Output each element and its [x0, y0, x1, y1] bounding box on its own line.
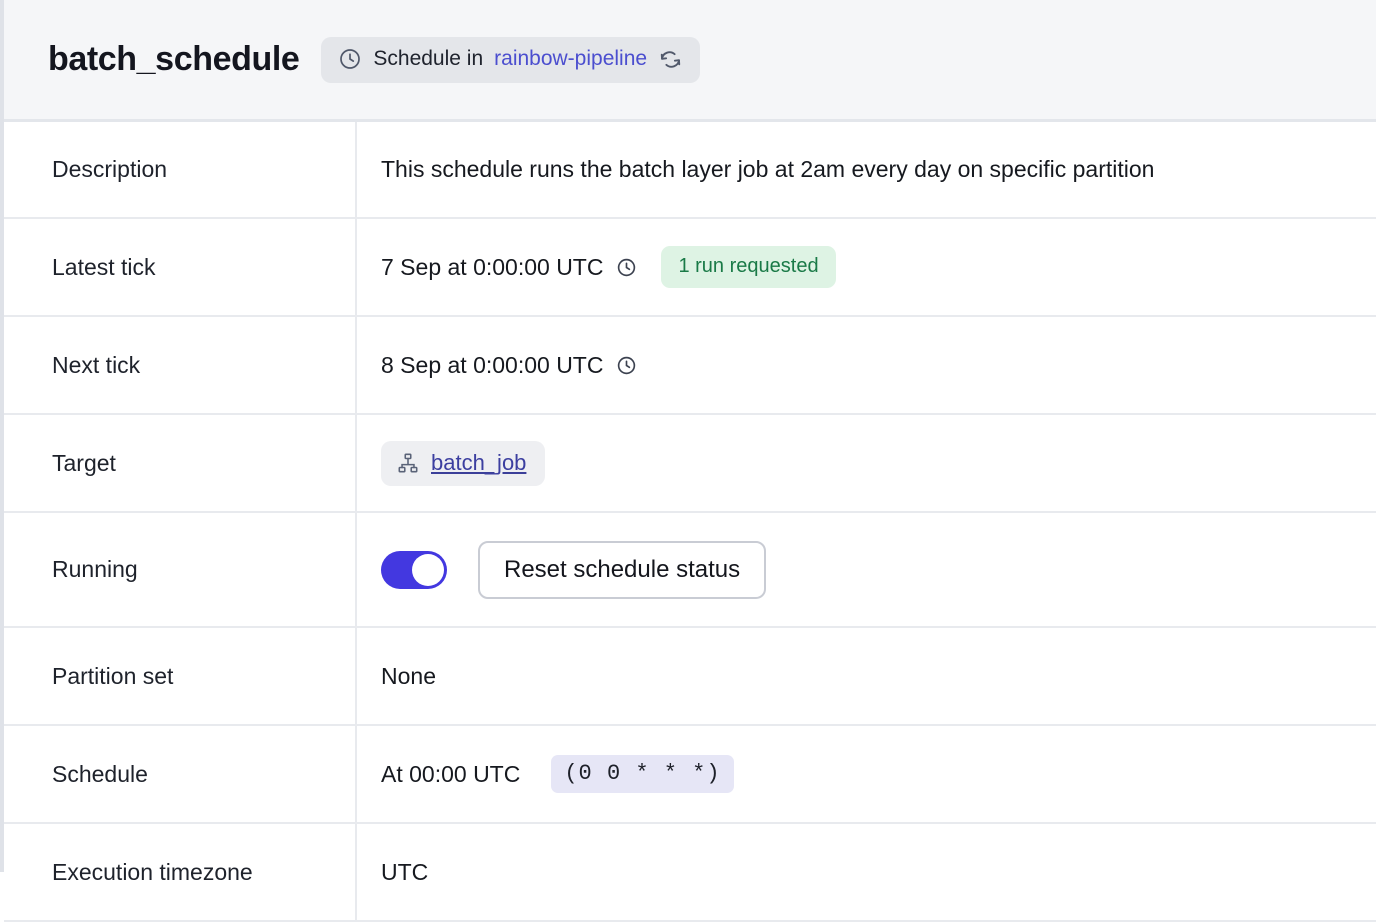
- table-row-schedule: Schedule At 00:00 UTC (0 0 * * *): [4, 725, 1376, 823]
- table-row-execution-timezone: Execution timezone UTC: [4, 823, 1376, 921]
- row-value-target: batch_job: [356, 414, 1376, 512]
- clock-icon: [616, 355, 637, 376]
- table-row-partition-set: Partition set None: [4, 627, 1376, 725]
- row-key-description: Description: [4, 122, 356, 218]
- row-key-target: Target: [4, 414, 356, 512]
- reset-schedule-status-button[interactable]: Reset schedule status: [478, 541, 766, 599]
- job-chip-label: batch_job: [431, 450, 526, 476]
- table-row-running: Running Reset schedule status: [4, 512, 1376, 627]
- row-key-next-tick: Next tick: [4, 316, 356, 414]
- clock-icon: [338, 47, 362, 71]
- page-title: batch_schedule: [48, 40, 299, 79]
- table-row-latest-tick: Latest tick 7 Sep at 0:00:00 UTC 1 run r…: [4, 218, 1376, 316]
- refresh-icon[interactable]: [658, 47, 683, 72]
- row-value-description: This schedule runs the batch layer job a…: [356, 122, 1376, 218]
- latest-tick-time: 7 Sep at 0:00:00 UTC: [381, 254, 603, 281]
- schedule-detail-page: batch_schedule Schedule in rainbow-pipel…: [0, 0, 1376, 872]
- table-row-next-tick: Next tick 8 Sep at 0:00:00 UTC: [4, 316, 1376, 414]
- next-tick-time: 8 Sep at 0:00:00 UTC: [381, 352, 603, 379]
- row-key-partition-set: Partition set: [4, 627, 356, 725]
- row-key-latest-tick: Latest tick: [4, 218, 356, 316]
- row-value-schedule: At 00:00 UTC (0 0 * * *): [356, 725, 1376, 823]
- schedule-badge-label: Schedule in: [373, 47, 483, 71]
- page-header: batch_schedule Schedule in rainbow-pipel…: [4, 0, 1376, 122]
- row-value-next-tick: 8 Sep at 0:00:00 UTC: [356, 316, 1376, 414]
- running-toggle[interactable]: [381, 551, 447, 589]
- row-value-execution-timezone: UTC: [356, 823, 1376, 921]
- schedule-detail-table: Description This schedule runs the batch…: [4, 122, 1376, 922]
- cron-expression-chip: (0 0 * * *): [551, 755, 733, 793]
- row-key-running: Running: [4, 512, 356, 627]
- row-value-latest-tick: 7 Sep at 0:00:00 UTC 1 run requested: [356, 218, 1376, 316]
- row-value-partition-set: None: [356, 627, 1376, 725]
- job-chip-batch-job[interactable]: batch_job: [381, 441, 545, 486]
- schedule-human-text: At 00:00 UTC: [381, 761, 520, 788]
- schedule-context-badge: Schedule in rainbow-pipeline: [321, 37, 700, 83]
- table-row-description: Description This schedule runs the batch…: [4, 122, 1376, 218]
- row-key-schedule: Schedule: [4, 725, 356, 823]
- clock-icon: [616, 257, 637, 278]
- row-key-execution-timezone: Execution timezone: [4, 823, 356, 921]
- status-badge: 1 run requested: [661, 246, 835, 288]
- toggle-knob: [412, 554, 444, 586]
- pipeline-link[interactable]: rainbow-pipeline: [494, 47, 647, 71]
- table-row-target: Target batch_job: [4, 414, 1376, 512]
- row-value-running: Reset schedule status: [356, 512, 1376, 627]
- job-hierarchy-icon: [397, 452, 419, 474]
